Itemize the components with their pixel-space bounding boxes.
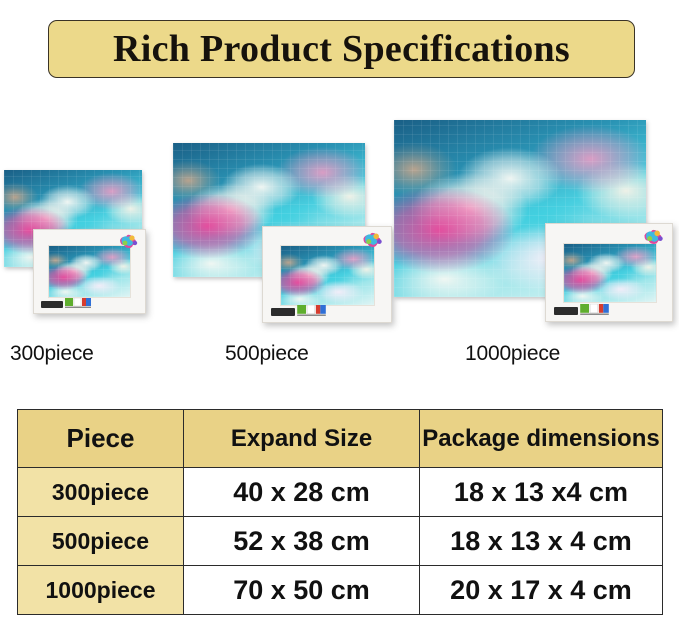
specifications-table: Piece Expand Size Package dimensions 300… [17, 409, 663, 615]
brand-logo-badge-icon [580, 304, 609, 315]
table-header-row: Piece Expand Size Package dimensions [18, 410, 663, 468]
header-package-dimensions: Package dimensions [420, 410, 663, 468]
puzzle-piece-logo-icon [118, 233, 140, 249]
barcode-badge-icon [41, 301, 63, 308]
box-badges-500piece [271, 305, 326, 316]
cell-expand-1000: 70 x 50 cm [184, 566, 420, 615]
cell-expand-300: 40 x 28 cm [184, 468, 420, 517]
box-artwork-image [48, 245, 131, 298]
table-row: 500piece 52 x 38 cm 18 x 13 x 4 cm [18, 517, 663, 566]
box-badges-300piece [41, 298, 91, 308]
box-artwork-image [563, 243, 657, 303]
product-box-500piece [262, 226, 392, 323]
cell-expand-500: 52 x 38 cm [184, 517, 420, 566]
product-showcase: 300piece [0, 95, 679, 385]
cell-piece-500: 500piece [18, 517, 184, 566]
brand-logo-badge-icon [65, 298, 91, 308]
cell-package-300: 18 x 13 x4 cm [420, 468, 663, 517]
box-artwork-inner [564, 244, 656, 302]
page-title: Rich Product Specifications [113, 30, 570, 68]
product-caption-500piece: 500piece [225, 342, 309, 366]
cell-piece-300: 300piece [18, 468, 184, 517]
table-row: 1000piece 70 x 50 cm 20 x 17 x 4 cm [18, 566, 663, 615]
puzzle-piece-logo-icon [361, 231, 385, 248]
brand-logo-badge-icon [297, 305, 326, 316]
cell-package-1000: 20 x 17 x 4 cm [420, 566, 663, 615]
page-title-banner: Rich Product Specifications [48, 20, 635, 78]
cell-package-500: 18 x 13 x 4 cm [420, 517, 663, 566]
product-caption-1000piece: 1000piece [465, 342, 560, 366]
product-group-1000piece: 1000piece [390, 95, 679, 385]
puzzle-piece-logo-icon [642, 228, 666, 245]
box-badges-1000piece [554, 304, 609, 315]
box-artwork-inner [281, 246, 374, 305]
header-expand-size: Expand Size [184, 410, 420, 468]
product-box-300piece [33, 229, 146, 314]
header-piece: Piece [18, 410, 184, 468]
barcode-badge-icon [271, 308, 295, 316]
table-row: 300piece 40 x 28 cm 18 x 13 x4 cm [18, 468, 663, 517]
barcode-badge-icon [554, 307, 578, 315]
product-box-1000piece [545, 223, 673, 322]
product-group-500piece: 500piece [170, 95, 395, 385]
product-group-300piece: 300piece [0, 95, 180, 385]
box-artwork-inner [49, 246, 130, 297]
box-artwork-image [280, 245, 375, 306]
product-caption-300piece: 300piece [10, 342, 94, 366]
cell-piece-1000: 1000piece [18, 566, 184, 615]
